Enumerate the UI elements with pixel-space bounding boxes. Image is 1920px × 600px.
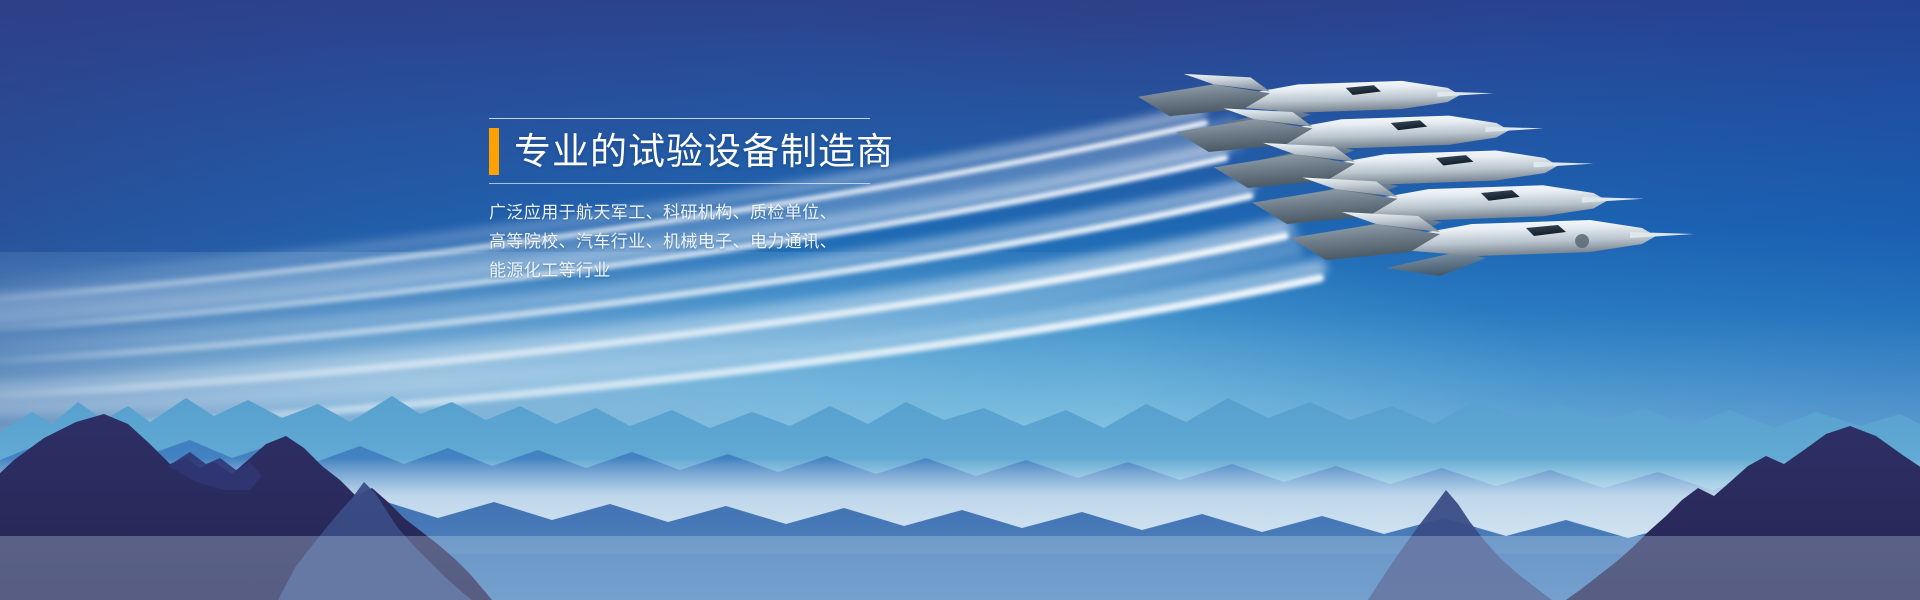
headline-rule-top [489, 118, 870, 119]
page-title: 专业的试验设备制造商 [514, 128, 894, 175]
mountain-svg [0, 340, 1920, 600]
headline-rule-bottom [489, 183, 870, 184]
mountain-range [0, 340, 1920, 600]
headline-row: 专业的试验设备制造商 [489, 128, 889, 175]
subtitle-line-3: 能源化工等行业 [489, 256, 889, 285]
subtitle-line-2: 高等院校、汽车行业、机械电子、电力通讯、 [489, 227, 889, 256]
subtitle-line-1: 广泛应用于航天军工、科研机构、质检单位、 [489, 198, 889, 227]
subtitle: 广泛应用于航天军工、科研机构、质检单位、 高等院校、汽车行业、机械电子、电力通讯… [489, 198, 889, 285]
hero-banner: 专业的试验设备制造商 广泛应用于航天军工、科研机构、质检单位、 高等院校、汽车行… [0, 0, 1920, 600]
banner-copy: 专业的试验设备制造商 广泛应用于航天军工、科研机构、质检单位、 高等院校、汽车行… [489, 118, 889, 285]
foreground-mist [0, 536, 1920, 600]
accent-bar [489, 128, 499, 175]
jet-5-lead [1290, 212, 1694, 276]
